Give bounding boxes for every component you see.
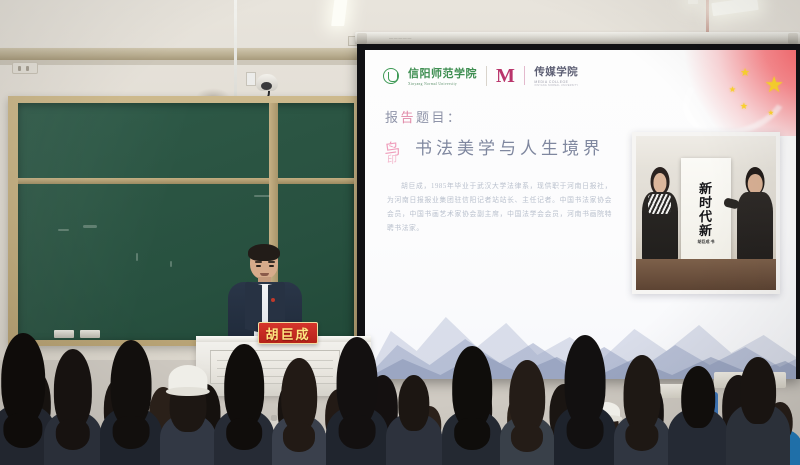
- lecture-hall-scene: ————— ★ ★ ★ ★ ★ 信阳师范学院 Xinyang Normal Un…: [0, 0, 800, 465]
- college-mark-bar: [524, 66, 526, 85]
- university-name-en: Xinyang Normal University: [408, 82, 477, 86]
- audience-person-head: [452, 346, 492, 429]
- wall-rail: [0, 48, 372, 60]
- audience-hair: [511, 424, 543, 452]
- star-icon: ★: [764, 74, 784, 96]
- audience-hair: [226, 418, 262, 450]
- university-name-cn: 信阳师范学院: [408, 65, 477, 81]
- audience-person: [668, 355, 728, 465]
- audience-person-head: [54, 349, 92, 430]
- kicker-suffix: 题目：: [416, 110, 463, 125]
- speaker-eyebrow: [255, 261, 262, 263]
- wall-socket-icon: [12, 62, 38, 74]
- audience-person-head: [509, 360, 545, 433]
- audience-cap-brim: [166, 387, 210, 397]
- screen-case-end: [357, 33, 367, 44]
- audience-person-head: [337, 337, 378, 426]
- audience-person: [100, 353, 162, 465]
- audience-person-head: [740, 357, 776, 424]
- audience-person: [500, 371, 554, 465]
- kicker-accent: 告: [401, 110, 417, 125]
- seal-ornament-icon: 印: [387, 151, 397, 166]
- calligraphy-char: 新: [699, 182, 713, 196]
- audience-person-head: [281, 358, 317, 433]
- audience-hair: [56, 419, 90, 450]
- audience-person: [386, 365, 442, 465]
- college-name-cn: 传媒学院: [534, 64, 578, 79]
- star-icon: ★: [740, 68, 750, 79]
- speaker-eye: [256, 265, 261, 267]
- calligraphy-char: 时: [699, 196, 713, 210]
- speaker-eyebrow: [268, 261, 275, 263]
- calligraphy-char: 代: [699, 210, 713, 224]
- audience-hair: [339, 415, 376, 449]
- audience-person-head: [681, 366, 715, 428]
- audience-person: [160, 367, 216, 465]
- audience-hair: [3, 413, 42, 448]
- speaker-mouth: [260, 273, 269, 276]
- slide-body-text: 胡巨成，1985年毕业于武汉大学法律系，现供职于河南日报社，为河南日报报业集团驻…: [387, 180, 612, 236]
- screen-brand-label: —————: [389, 35, 412, 40]
- ceiling-camera-icon: [256, 74, 278, 91]
- star-icon: ★: [768, 110, 774, 117]
- slide-title: 书法美学与人生境界: [415, 134, 604, 159]
- screen-case-end: [788, 33, 798, 44]
- college-mark-icon: M: [496, 67, 515, 85]
- audience-person-head: [1, 333, 45, 425]
- fluorescent-lamp-glow: [688, 0, 698, 4]
- audience-person: [326, 351, 388, 465]
- audience-hair: [283, 423, 315, 452]
- slide-logo-row: 信阳师范学院 Xinyang Normal University M 传媒学院 …: [383, 64, 578, 87]
- speaker-hair: [248, 244, 280, 261]
- college-name-en-sub: XINYANG NORMAL UNIVERSITY: [534, 84, 578, 87]
- audience-person-head: [398, 375, 429, 431]
- calligraphy-char: 新: [699, 224, 713, 238]
- university-seal-icon: [383, 68, 399, 84]
- audience-person-head: [224, 344, 264, 428]
- audience-hair: [567, 414, 604, 449]
- audience-person: [214, 357, 274, 465]
- audience-person-head: [565, 335, 606, 425]
- audience-person: [442, 359, 502, 465]
- speaker-lapel-pin: [271, 298, 275, 302]
- audience-person: [44, 361, 102, 465]
- lamp-pole: [706, 0, 709, 36]
- slide-kicker: 报告题目：: [385, 107, 463, 126]
- audience-person: [614, 367, 670, 465]
- star-icon: ★: [740, 102, 748, 111]
- speaker-eye: [269, 265, 274, 267]
- audience-person: [554, 349, 616, 465]
- audience-person-head: [111, 340, 152, 427]
- audience-person: [726, 345, 790, 465]
- audience-person: [272, 369, 326, 465]
- chinese-flag-graphic: ★ ★ ★ ★ ★: [676, 50, 796, 136]
- wall-rail-lower: [0, 60, 372, 65]
- audience-hair: [454, 418, 490, 450]
- audience-area: [0, 305, 800, 465]
- logo-divider: [486, 66, 487, 86]
- photo-person-scarf: [648, 194, 671, 213]
- calligraphy-signature: 胡巨成 书: [697, 240, 714, 244]
- audience-person-head: [624, 355, 661, 431]
- kicker-prefix: 报: [385, 110, 401, 125]
- equipment-box: [246, 72, 256, 86]
- audience-hair: [113, 416, 150, 450]
- star-icon: ★: [729, 86, 736, 94]
